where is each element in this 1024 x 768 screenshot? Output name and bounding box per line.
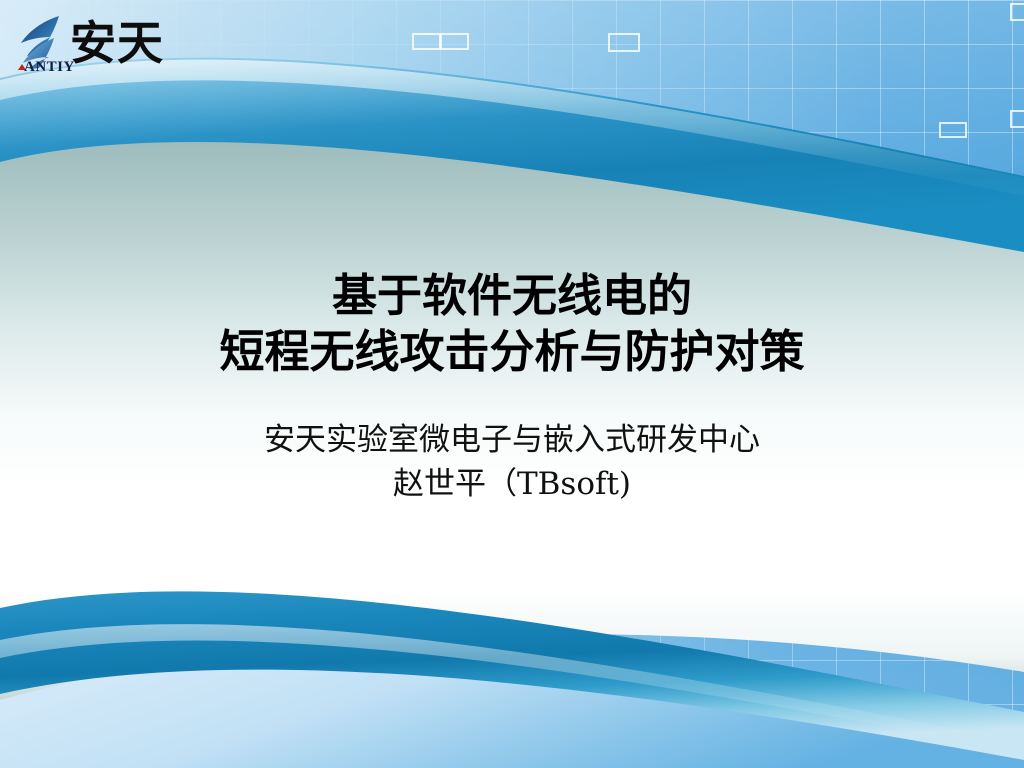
antiy-brand-latin: ANTIY xyxy=(24,59,75,76)
subtitle-organization: 安天实验室微电子与嵌入式研发中心 xyxy=(0,418,1024,462)
title-line-1: 基于软件无线电的 xyxy=(0,268,1024,324)
slide-text-block: 基于软件无线电的 短程无线攻击分析与防护对策 安天实验室微电子与嵌入式研发中心 … xyxy=(0,268,1024,506)
antiy-brand-cjk: 安天 xyxy=(70,20,164,66)
subtitle-block: 安天实验室微电子与嵌入式研发中心 赵世平（TBsoft) xyxy=(0,418,1024,506)
title-slide: 安天 ANTIY 基于软件无线电的 短程无线攻击分析与防护对策 安天实验室微电子… xyxy=(0,0,1024,768)
subtitle-author: 赵世平（TBsoft) xyxy=(0,462,1024,506)
antiy-logo: 安天 ANTIY xyxy=(10,12,240,78)
title-line-2: 短程无线攻击分析与防护对策 xyxy=(0,324,1024,380)
